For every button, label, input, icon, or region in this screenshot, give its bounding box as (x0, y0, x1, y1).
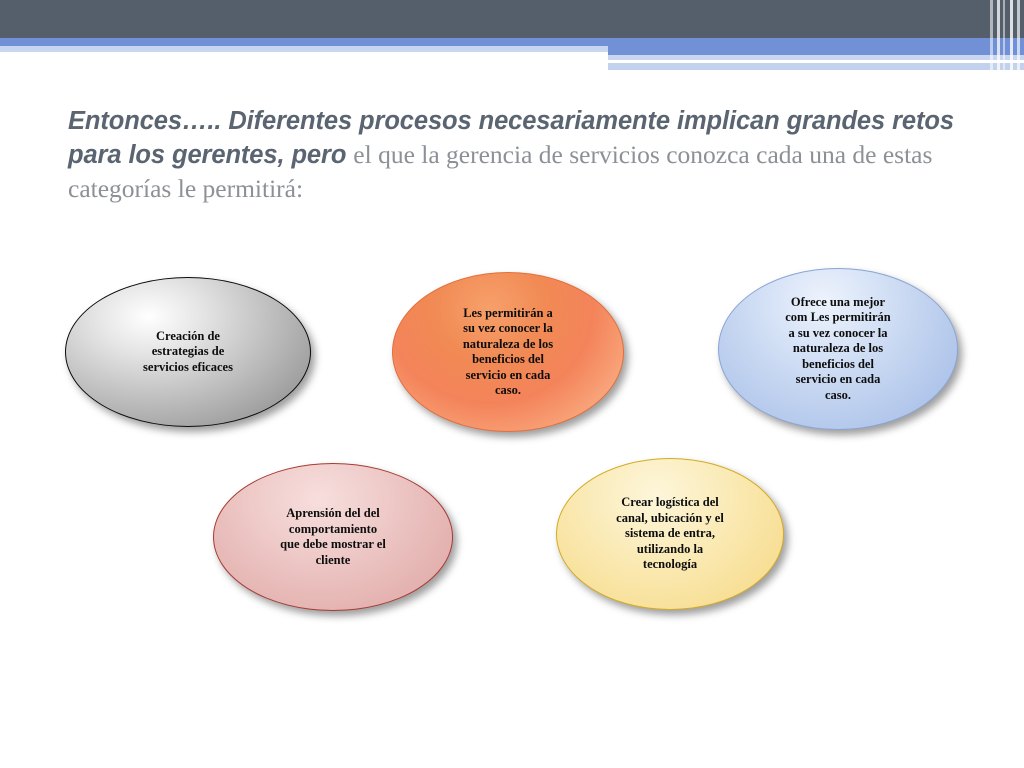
bubble-creacion-estrategias[interactable]: Creación de estrategias de servicios efi… (65, 277, 311, 427)
bubble-label: Aprensión del del comportamiento que deb… (266, 506, 400, 568)
bubble-label: Ofrece una mejor com Les permitirán a su… (771, 295, 905, 404)
diagram-canvas: Creación de estrategias de servicios efi… (0, 0, 1024, 768)
bubble-aprension-comportamiento[interactable]: Aprensión del del comportamiento que deb… (213, 463, 453, 611)
bubble-label: Les permitirán a su vez conocer la natur… (449, 306, 567, 399)
bubble-crear-logistica[interactable]: Crear logística del canal, ubicación y e… (556, 458, 784, 610)
bubble-ofrece-una-mejor[interactable]: Ofrece una mejor com Les permitirán a su… (718, 268, 958, 430)
bubble-label: Creación de estrategias de servicios efi… (129, 329, 247, 376)
bubble-label: Crear logística del canal, ubicación y e… (602, 495, 738, 573)
bubble-les-permitiran[interactable]: Les permitirán a su vez conocer la natur… (392, 272, 624, 432)
